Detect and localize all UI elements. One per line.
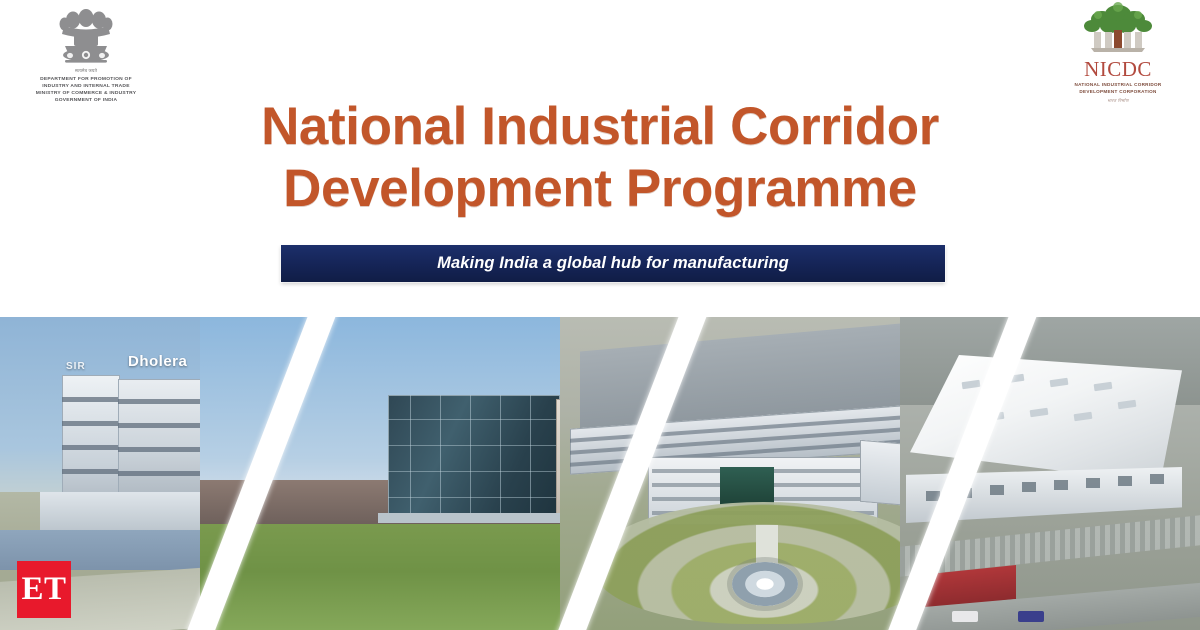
government-of-india-emblem-block: सत्यमेव जयते DEPARTMENT FOR PROMOTION OF… — [18, 4, 154, 105]
building-signage-secondary: SIR — [66, 361, 86, 372]
emblem-motto: सत्यमेव जयते — [18, 68, 154, 74]
parked-car — [952, 611, 978, 622]
collage-panel-industrial-warehouse-factory — [900, 317, 1200, 630]
central-fountain — [732, 562, 798, 606]
nicdc-expansion-line-2: DEVELOPMENT CORPORATION — [1058, 89, 1178, 96]
page-title-line-1: National Industrial Corridor — [261, 97, 939, 156]
entrance-canopy — [378, 513, 578, 523]
india-national-emblem-icon — [18, 4, 154, 70]
ministry-line-2: INDUSTRY AND INTERNAL TRADE — [18, 84, 154, 91]
central-atrium — [720, 467, 774, 505]
nicdc-wordmark: NICDC — [1058, 59, 1178, 80]
et-wordmark: ET — [21, 573, 66, 606]
nicdc-expansion: NATIONAL INDUSTRIAL CORRIDOR DEVELOPMENT… — [1058, 82, 1178, 96]
page-title-wrap: National Industrial Corridor Development… — [0, 96, 1200, 220]
economic-times-watermark-logo: ET — [17, 561, 71, 618]
header-band: सत्यमेव जयते DEPARTMENT FOR PROMOTION OF… — [0, 0, 1200, 317]
tagline-text: Making India a global hub for manufactur… — [437, 254, 789, 273]
nicdc-logo-block: NICDC NATIONAL INDUSTRIAL CORRIDOR DEVEL… — [1058, 2, 1178, 104]
nicdc-expansion-line-1: NATIONAL INDUSTRIAL CORRIDOR — [1058, 82, 1178, 89]
page-title-line-2: Development Programme — [0, 158, 1200, 220]
glass-facade-block — [388, 395, 560, 523]
nicdc-tree-and-pillars-icon — [1058, 2, 1178, 62]
building-signage-primary: Dholera — [128, 353, 187, 370]
tagline-banner: Making India a global hub for manufactur… — [281, 245, 945, 282]
building-left-wing — [62, 375, 120, 503]
parked-car — [1018, 611, 1044, 622]
page-title: National Industrial Corridor Development… — [0, 96, 1200, 220]
ministry-line-1: DEPARTMENT FOR PROMOTION OF — [18, 77, 154, 84]
photo-collage: Dholera SIR — [0, 317, 1200, 630]
